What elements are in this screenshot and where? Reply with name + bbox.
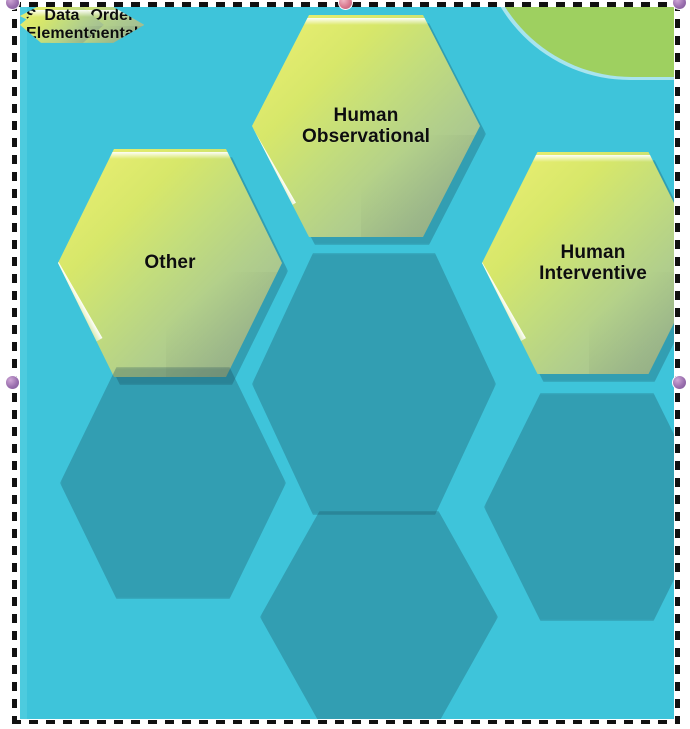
hexagon-diagram-image[interactable]: Human Observational Other <box>20 7 674 719</box>
hexagon-top-highlight <box>513 155 673 162</box>
hexagon-label-line1: Human <box>561 242 626 263</box>
selection-border-left <box>12 2 17 724</box>
resize-handle-middle-left[interactable] <box>5 375 20 390</box>
hexagon-top-highlight <box>284 18 448 25</box>
image-selection-frame[interactable]: Human Observational Other <box>12 2 680 724</box>
hexagon-label: Human Observational <box>296 105 436 148</box>
center-label-line1: Data <box>44 7 79 24</box>
hexagon-label-line2: Observational <box>302 126 430 147</box>
hexagon-shadow <box>252 253 496 515</box>
hexagon-shadow <box>484 393 674 621</box>
hexagon-shadow <box>260 511 498 719</box>
hexagon-label: Other <box>138 252 201 273</box>
hexagon-top-highlight <box>89 152 250 159</box>
hexagon-shade <box>361 135 480 237</box>
hexagon-label-line2: Interventive <box>539 263 647 284</box>
resize-handle-middle-right[interactable] <box>672 375 687 390</box>
screenshot-canvas: Human Observational Other <box>0 0 690 729</box>
hexagon-label-line1: Human <box>334 105 399 126</box>
resize-handle-top-left[interactable] <box>5 0 20 10</box>
selection-border-right <box>675 2 680 724</box>
resize-handle-top-right[interactable] <box>672 0 687 10</box>
hexagon-shadow <box>60 367 286 599</box>
green-corner-blob <box>482 7 674 77</box>
selection-border-bottom <box>12 720 680 724</box>
hexagon-label-line1: Other <box>144 252 195 273</box>
hexagon-label: Human Interventive <box>533 242 653 285</box>
hexagon-human-interventive[interactable]: Human Interventive <box>482 152 674 374</box>
